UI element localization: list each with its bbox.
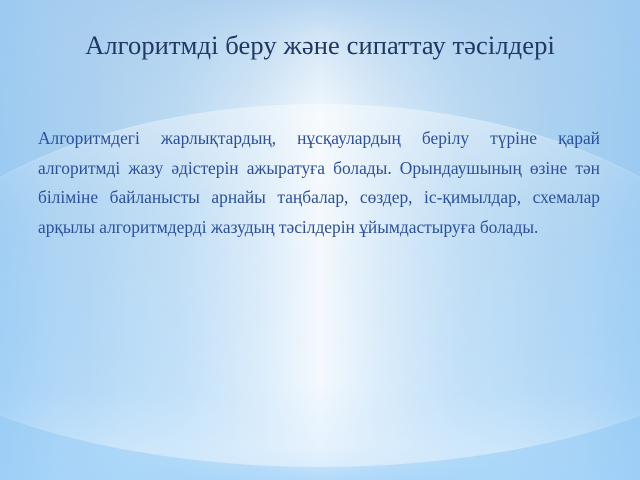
slide-title: Алгоритмді беру және сипаттау тәсілдері: [0, 29, 640, 62]
slide-body-text: Алгоритмдегі жарлықтардың, нұсқаулардың …: [38, 124, 600, 242]
presentation-slide: Алгоритмді беру және сипаттау тәсілдері …: [0, 0, 640, 480]
slide-content: Алгоритмді беру және сипаттау тәсілдері …: [0, 0, 640, 480]
